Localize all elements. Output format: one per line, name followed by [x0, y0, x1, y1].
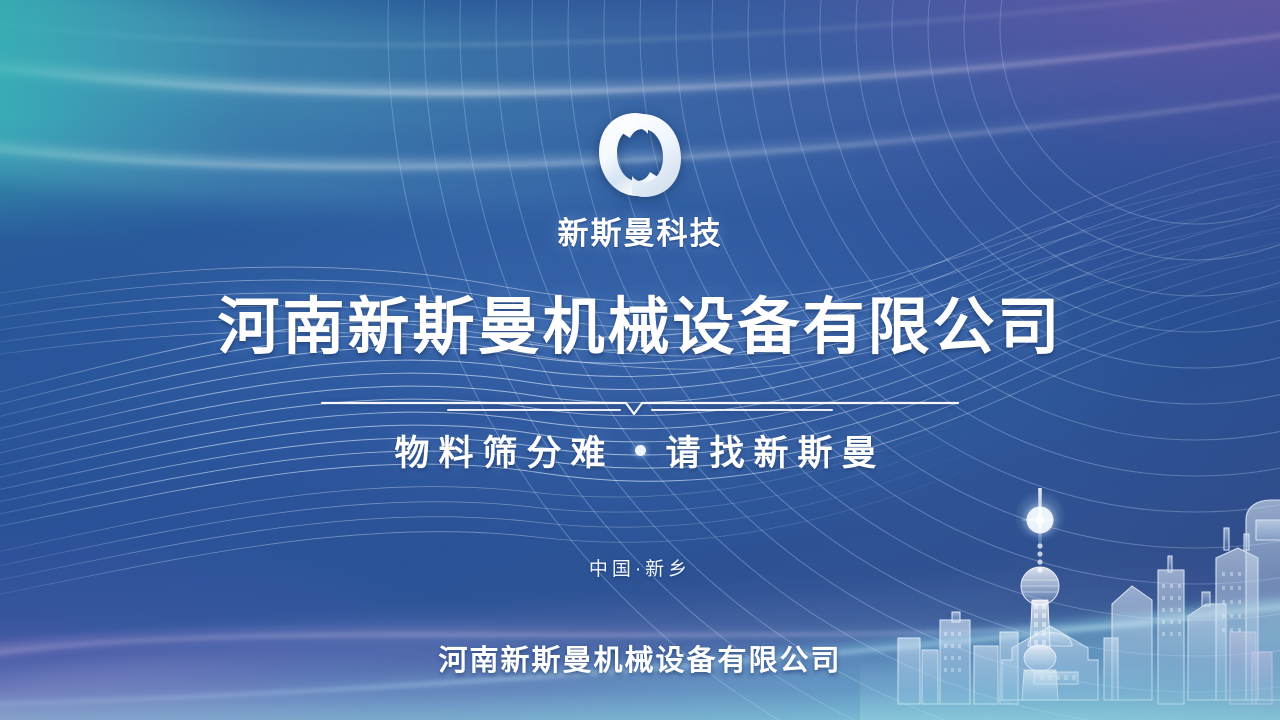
company-title: 河南新斯曼机械设备有限公司	[0, 296, 1280, 361]
location-label: 中国·新乡	[0, 554, 1280, 581]
swirl-s-logo-icon	[586, 108, 694, 202]
slogan-right-text: 请找新斯曼	[666, 425, 886, 476]
slogan-left-text: 物料筛分难	[394, 425, 614, 476]
brand-logo-block: 新斯曼科技	[0, 108, 1280, 253]
slide-canvas: 新斯曼科技 河南新斯曼机械设备有限公司 物料筛分难 请找新斯曼 中国·新乡 河南…	[0, 0, 1280, 720]
dot-separator-icon	[635, 445, 646, 456]
slogan: 物料筛分难 请找新斯曼	[0, 425, 1280, 476]
chevron-divider-icon	[0, 396, 1280, 422]
footer-caption: 河南新斯曼机械设备有限公司	[0, 637, 1280, 679]
brand-wordmark: 新斯曼科技	[558, 208, 723, 253]
